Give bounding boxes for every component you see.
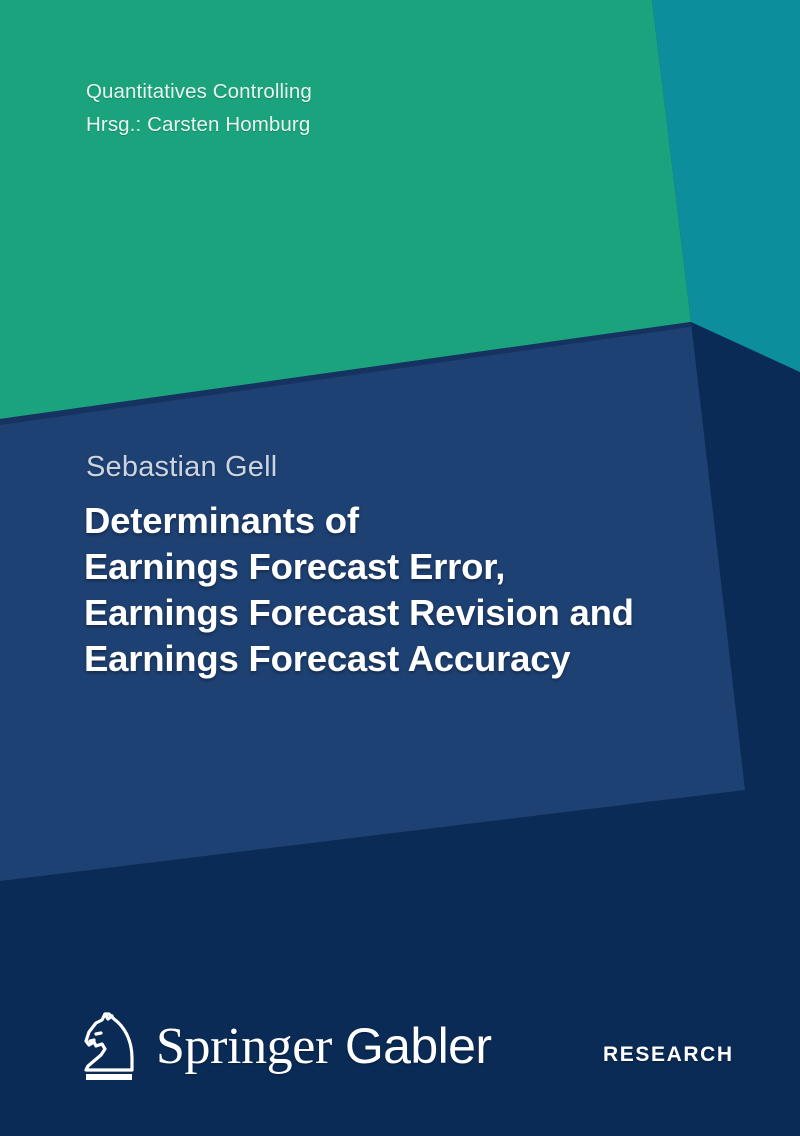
series-name: Quantitatives Controlling [86,75,646,108]
author-name: Sebastian Gell [86,449,277,485]
publisher-logo: Springer Gabler [78,1008,491,1084]
title-line-4: Earnings Forecast Accuracy [84,636,764,682]
book-title: Determinants of Earnings Forecast Error,… [84,498,764,682]
series-editor: Hrsg.: Carsten Homburg [86,108,646,141]
category-tag: RESEARCH [603,1043,734,1067]
title-line-3: Earnings Forecast Revision and [84,590,764,636]
book-cover: Quantitatives Controlling Hrsg.: Carsten… [0,0,800,1136]
publisher-name-secondary: Gabler [345,1019,491,1073]
publisher-name-primary: Springer [156,1020,332,1074]
series-block: Quantitatives Controlling Hrsg.: Carsten… [86,75,646,141]
title-line-2: Earnings Forecast Error, [84,544,764,590]
publisher-wordmark: Springer Gabler [156,1019,491,1074]
knight-base-bar [86,1074,132,1080]
title-line-1: Determinants of [84,498,764,544]
springer-knight-icon [78,1008,140,1084]
